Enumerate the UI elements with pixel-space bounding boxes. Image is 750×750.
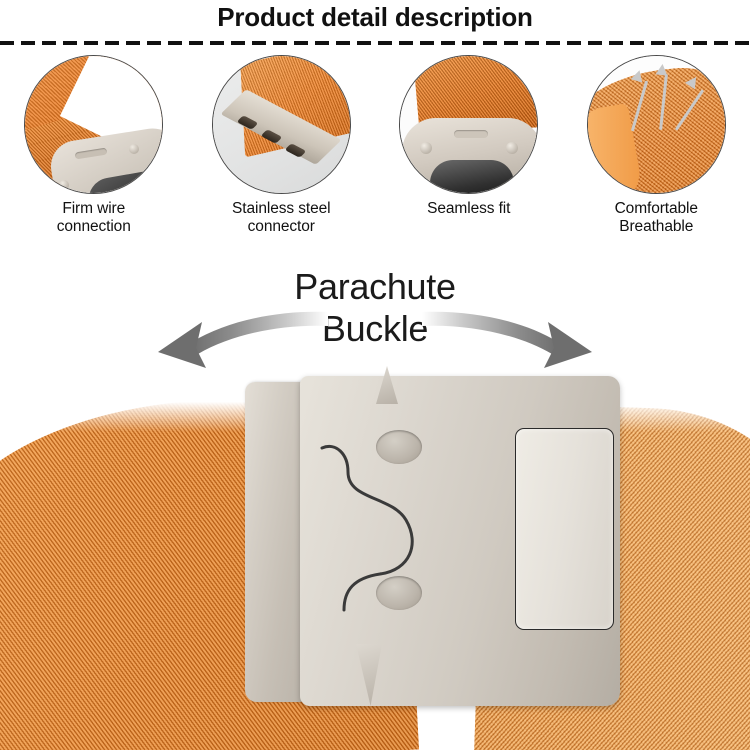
buckle-prong-top — [376, 366, 398, 404]
feature-image-comfortable-breathable — [587, 55, 726, 194]
feature-caption-stainless-steel-connector: Stainless steel connector — [232, 200, 330, 235]
buckle-title: Parachute Buckle — [0, 266, 750, 350]
feature-caption-comfortable-breathable: Comfortable Breathable — [615, 200, 698, 235]
feature-image-seamless-fit — [399, 55, 538, 194]
feature-caption-firm-wire-connection: Firm wire connection — [57, 200, 131, 235]
feature-stainless-steel-connector: Stainless steel connector — [188, 55, 376, 250]
right-curved-arrow — [420, 296, 610, 376]
feature-seamless-fit: Seamless fit — [375, 55, 563, 250]
feature-caption-seamless-fit: Seamless fit — [427, 200, 510, 218]
feature-row: Firm wire connection Stainless steel con… — [0, 55, 750, 250]
buckle-tongue-groove — [314, 438, 454, 628]
buckle-release-button[interactable] — [515, 428, 614, 630]
feature-comfortable-breathable: Comfortable Breathable — [563, 55, 750, 250]
product-detail-page: Product detail description Firm wire con… — [0, 0, 750, 750]
buckle-prong-bottom — [356, 644, 382, 706]
airflow-arrow-2-head — [655, 63, 668, 75]
dashed-divider — [0, 41, 750, 45]
feature-firm-wire-connection: Firm wire connection — [0, 55, 188, 250]
feature-image-stainless-steel-connector — [212, 55, 351, 194]
page-title: Product detail description — [0, 2, 750, 33]
left-curved-arrow — [140, 296, 330, 376]
feature-image-firm-wire-connection — [24, 55, 163, 194]
circle3-watch-screen — [430, 160, 514, 194]
circle3-lug-slot — [454, 130, 488, 138]
